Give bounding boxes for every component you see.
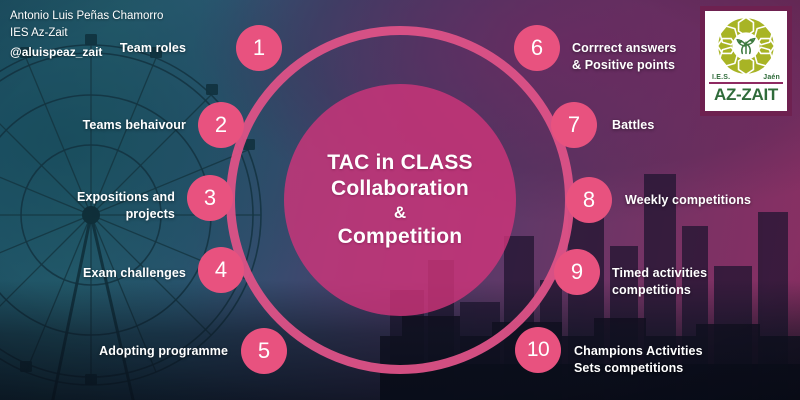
step-badge-1[interactable]: 1 (236, 25, 282, 71)
step-badge-9[interactable]: 9 (554, 249, 600, 295)
logo-ies-label: I.E.S. (712, 74, 730, 81)
step-badge-6[interactable]: 6 (514, 25, 560, 71)
step-label-9: Timed activities competitions (612, 265, 762, 298)
infographic-canvas: TAC in CLASS Collaboration & Competition… (0, 0, 800, 400)
step-badge-3[interactable]: 3 (187, 175, 233, 221)
logo-province-label: Jaén (763, 74, 780, 81)
author-school: IES Az-Zait (10, 25, 163, 42)
center-title-block: TAC in CLASS Collaboration & Competition (284, 84, 516, 316)
az-zait-logo: I.E.S. Jaén AZ-ZAIT (700, 6, 792, 116)
olive-rosette-icon (715, 15, 777, 77)
author-credit: Antonio Luis Peñas Chamorro IES Az-Zait … (10, 8, 163, 61)
step-badge-10[interactable]: 10 (515, 327, 561, 373)
center-title-line-2: Collaboration (331, 176, 469, 202)
author-name: Antonio Luis Peñas Chamorro (10, 8, 163, 25)
step-badge-5[interactable]: 5 (241, 328, 287, 374)
center-title-ampersand: & (394, 202, 406, 223)
center-title-line-1: TAC in CLASS (327, 150, 473, 176)
author-handle: @aluispeaz_zait (10, 43, 163, 61)
logo-subtitle-row: I.E.S. Jaén (705, 74, 787, 81)
center-title-line-4: Competition (338, 224, 463, 250)
step-badge-4[interactable]: 4 (198, 247, 244, 293)
step-badge-8[interactable]: 8 (566, 177, 612, 223)
logo-inner-panel: I.E.S. Jaén AZ-ZAIT (705, 11, 787, 111)
step-label-5: Adopting programme (70, 343, 228, 360)
step-label-10: Champions Activities Sets competitions (574, 343, 754, 376)
step-label-2: Teams behaivour (50, 117, 186, 134)
logo-divider (709, 82, 783, 84)
step-label-4: Exam challenges (58, 265, 186, 282)
step-label-7: Battles (612, 117, 732, 134)
step-label-3: Expositions and projects (55, 189, 175, 222)
logo-school-name: AZ-ZAIT (714, 86, 778, 103)
step-badge-7[interactable]: 7 (551, 102, 597, 148)
step-badge-2[interactable]: 2 (198, 102, 244, 148)
step-label-8: Weekly competitions (625, 192, 785, 209)
